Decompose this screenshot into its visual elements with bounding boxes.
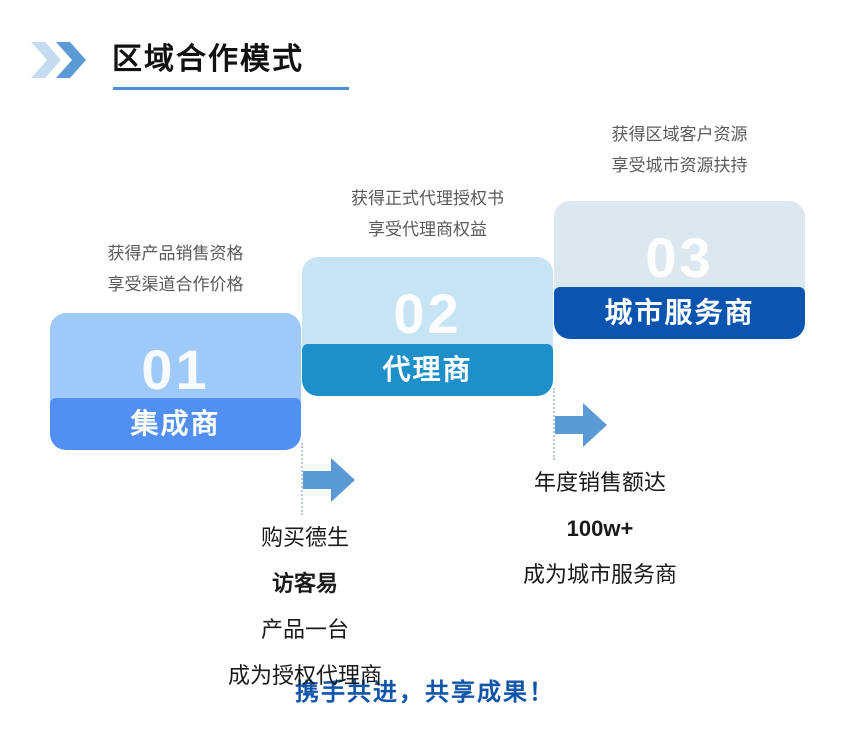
requirement-line-2: 成为授权代理商 (135, 653, 475, 699)
step-number: 03 (554, 230, 805, 286)
step-card-1[interactable]: 01 集成商 (50, 313, 301, 450)
arrow-right-icon (303, 458, 355, 502)
connector-1 (301, 443, 357, 515)
connector-2 (553, 388, 609, 460)
chevron-right-dark-icon (56, 42, 86, 78)
requirement-text-pre: 购买德生 (135, 515, 475, 561)
step-card-2[interactable]: 02 代理商 (302, 257, 553, 396)
step-benefits-2: 获得正式代理授权书 享受代理商权益 (302, 183, 553, 245)
step-benefits-1: 获得产品销售资格 享受渠道合作价格 (50, 238, 301, 300)
step-label: 城市服务商 (554, 299, 805, 327)
title-underline (113, 87, 349, 90)
infographic-canvas: 区域合作模式 获得产品销售资格 享受渠道合作价格 获得正式代理授权书 享受代理商… (0, 0, 850, 737)
step-benefits-3: 获得区域客户资源 享受城市资源扶持 (554, 119, 805, 181)
benefit-line: 获得区域客户资源 (554, 119, 805, 150)
page-title: 区域合作模式 (112, 34, 304, 78)
requirement-line-1: 购买德生访客易产品一台 (135, 515, 475, 653)
requirement-text-1: 购买德生访客易产品一台 成为授权代理商 (135, 515, 475, 699)
benefit-line: 享受代理商权益 (302, 214, 553, 245)
requirement-line-2: 成为城市服务商 (430, 552, 770, 598)
step-card-3[interactable]: 03 城市服务商 (554, 201, 805, 339)
step-number: 02 (302, 286, 553, 342)
step-label: 集成商 (50, 410, 301, 438)
step-label: 代理商 (302, 356, 553, 384)
benefit-line: 享受渠道合作价格 (50, 269, 301, 300)
requirement-text-pre: 年度销售额达 (430, 460, 770, 506)
double-chevron-icon (31, 42, 93, 78)
benefit-line: 享受城市资源扶持 (554, 150, 805, 181)
header: 区域合作模式 (0, 30, 850, 100)
requirement-text-strong: 访客易 (272, 571, 338, 596)
requirement-line-1: 年度销售额达100w+ (430, 460, 770, 552)
step-number: 01 (50, 342, 301, 398)
benefit-line: 获得正式代理授权书 (302, 183, 553, 214)
arrow-right-icon (555, 403, 607, 447)
requirement-text-post: 产品一台 (135, 607, 475, 653)
requirement-text-strong: 100w+ (567, 516, 634, 541)
benefit-line: 获得产品销售资格 (50, 238, 301, 269)
requirement-text-2: 年度销售额达100w+ 成为城市服务商 (430, 460, 770, 598)
